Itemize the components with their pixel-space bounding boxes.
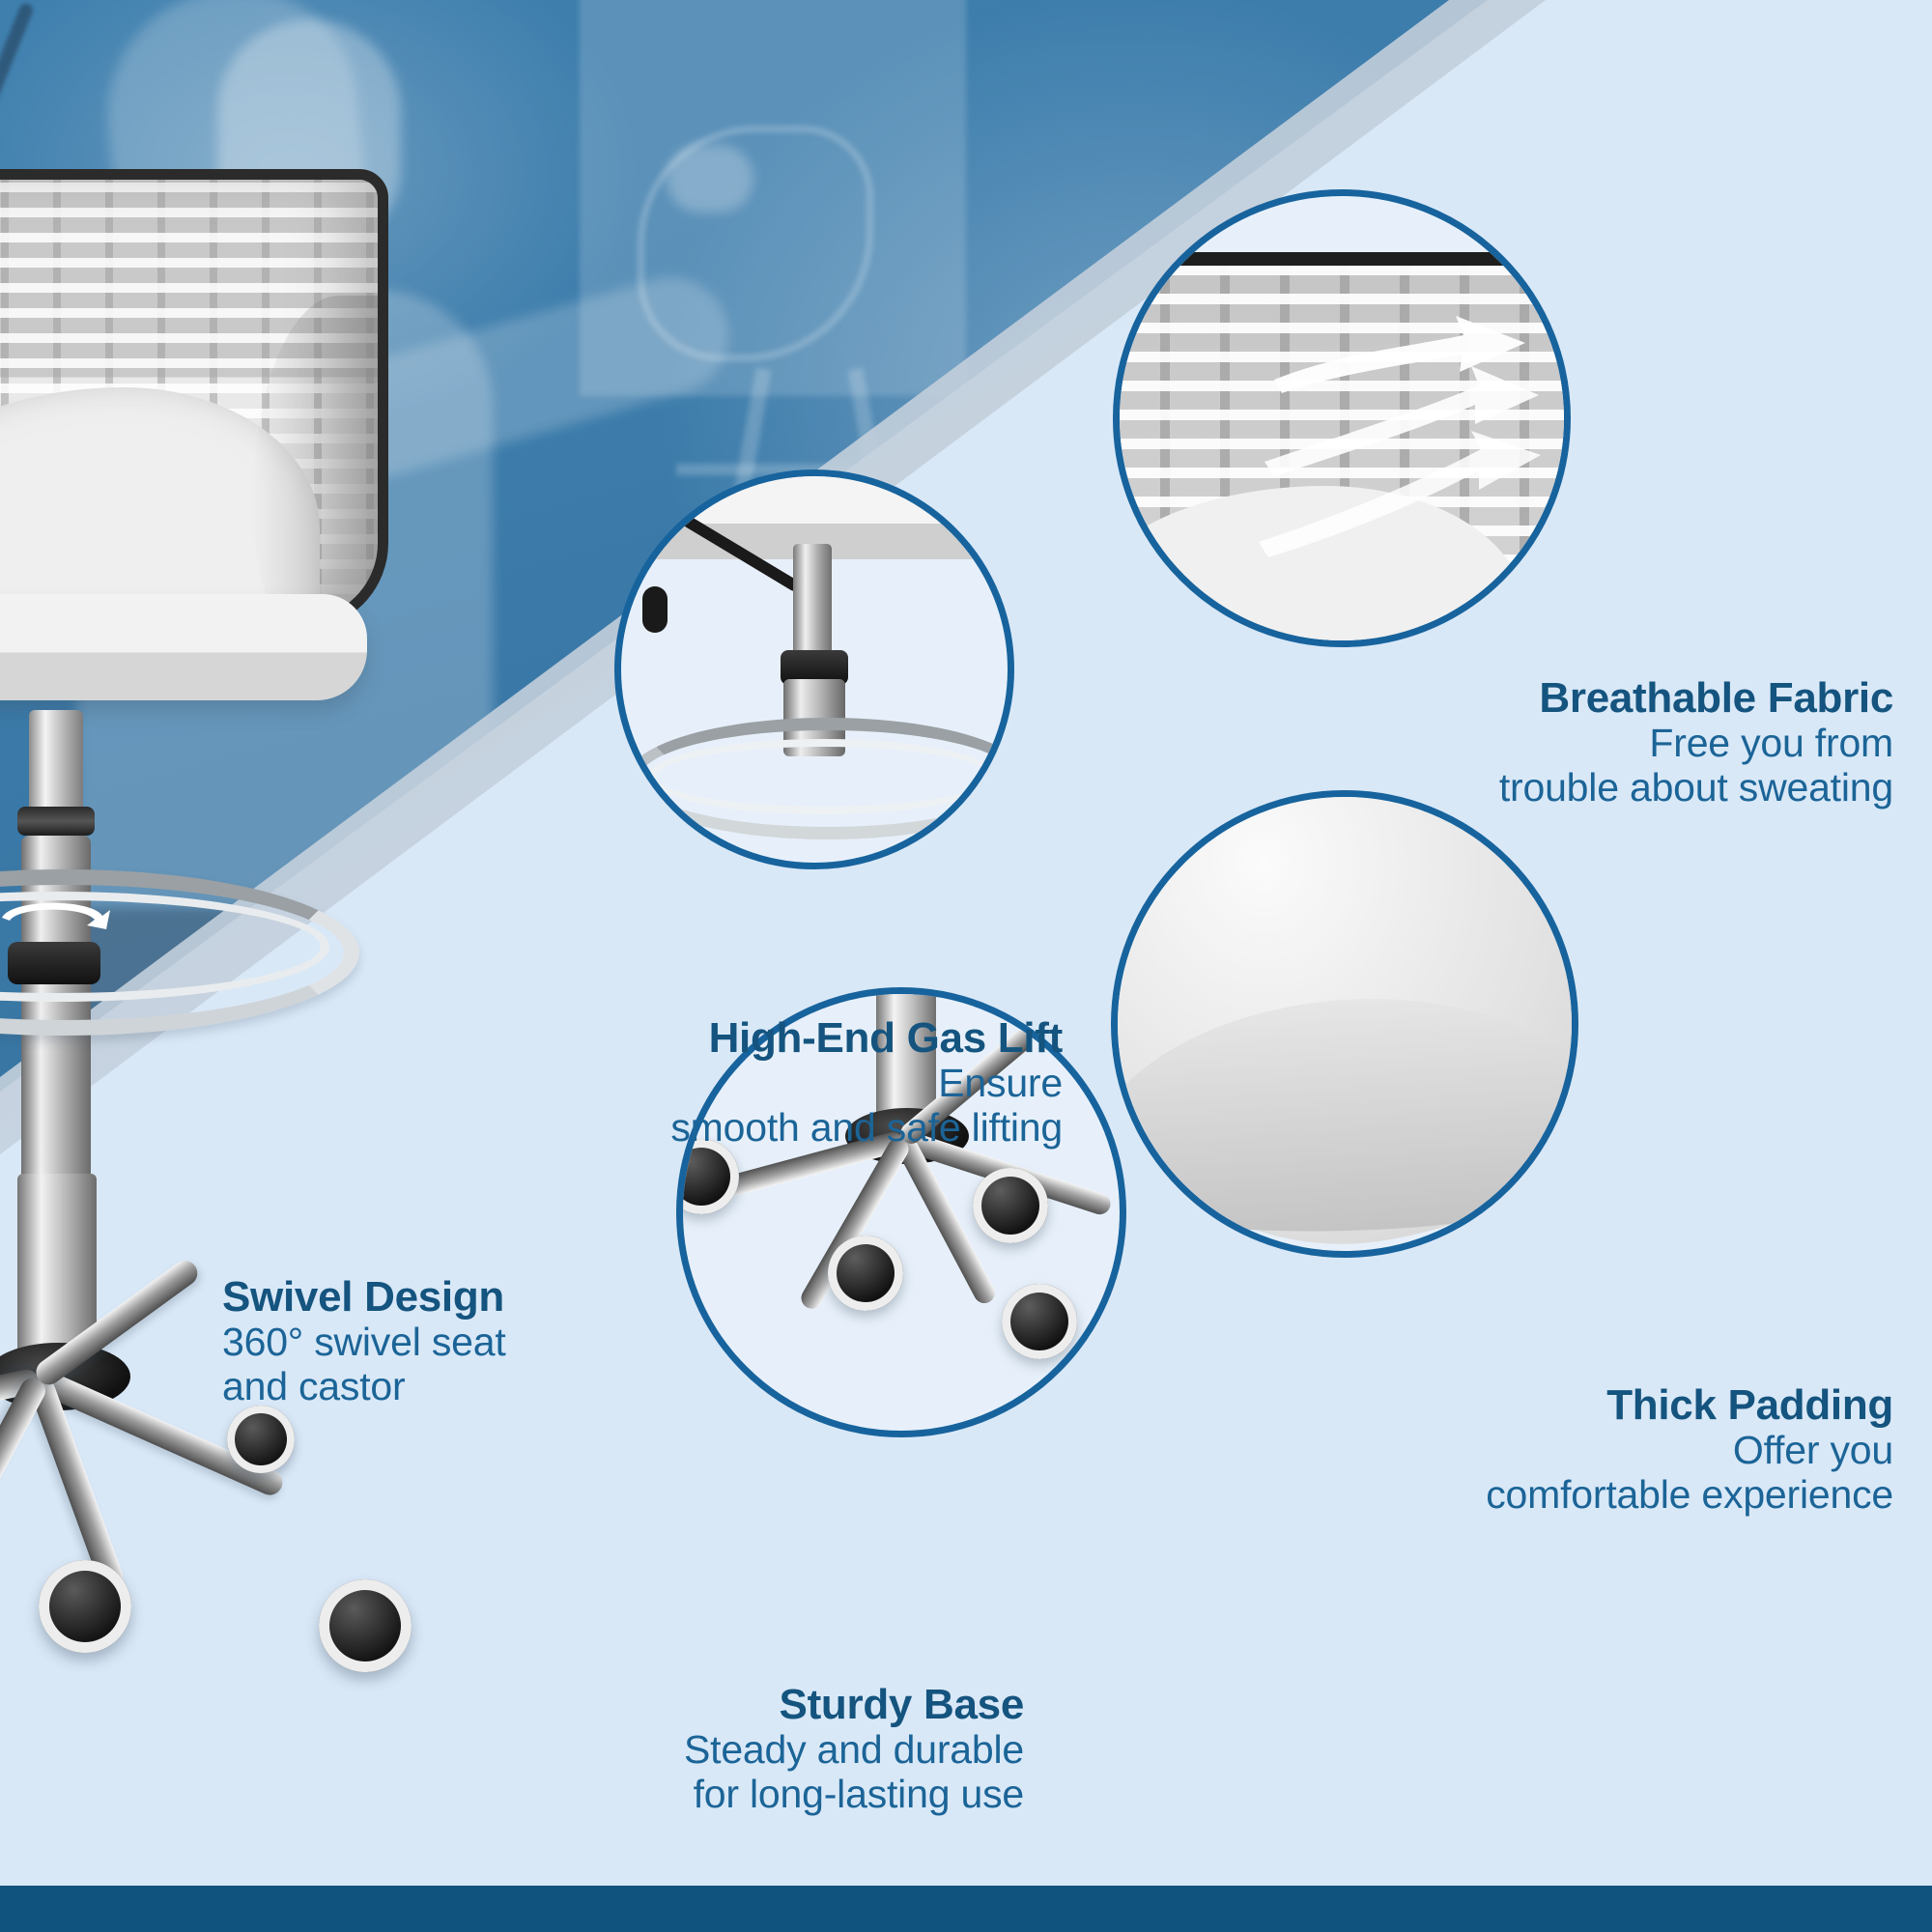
feature-title: Sturdy Base: [464, 1683, 1024, 1728]
caster-wheel: [319, 1579, 412, 1672]
feature-image-breathable-fabric: [1113, 189, 1571, 647]
caster-wheel: [39, 1560, 131, 1653]
feature-title: High-End Gas Lift: [406, 1016, 1063, 1062]
caster-wheel: [828, 1236, 903, 1311]
gas-lift-collar: [17, 807, 95, 836]
feature-title: Swivel Design: [222, 1275, 724, 1321]
feature-line1: Offer you: [947, 1429, 1893, 1473]
airflow-arrows-icon: [1236, 264, 1564, 582]
bottom-accent-bar: [0, 1886, 1932, 1932]
caster-wheel: [973, 1168, 1048, 1243]
lever-knob: [642, 586, 668, 633]
chair-seat-cushion: [0, 594, 367, 700]
feature-text-breathable-fabric: Breathable Fabric Free you from trouble …: [850, 676, 1893, 810]
feature-text-swivel-design: Swivel Design 360° swivel seat and casto…: [222, 1275, 724, 1408]
caster-wheel: [227, 1406, 295, 1473]
feature-line2: for long-lasting use: [464, 1773, 1024, 1817]
gas-lift-rod: [793, 544, 832, 658]
person-hand-silhouette: [667, 145, 753, 213]
infographic-canvas: Breathable Fabric Free you from trouble …: [0, 0, 1932, 1932]
feature-title: Breathable Fabric: [850, 676, 1893, 722]
feature-line2: trouble about sweating: [850, 766, 1893, 810]
feature-line2: and castor: [222, 1365, 724, 1409]
footring-clamp: [8, 942, 100, 984]
caster-wheel: [1002, 1284, 1077, 1359]
feature-image-thick-padding: [1111, 790, 1578, 1258]
feature-line1: Ensure: [406, 1062, 1063, 1106]
feature-line2: comfortable experience: [947, 1473, 1893, 1518]
backrest-shading: [252, 296, 388, 630]
chair-backrest: [0, 169, 388, 630]
feature-text-sturdy-base: Sturdy Base Steady and durable for long-…: [464, 1683, 1024, 1816]
feature-text-gas-lift: High-End Gas Lift Ensure smooth and safe…: [406, 1016, 1063, 1150]
feature-line1: Free you from: [850, 722, 1893, 766]
swivel-rotation-arrow-icon: [0, 889, 116, 941]
feature-line1: 360° swivel seat: [222, 1321, 724, 1365]
feature-title: Thick Padding: [947, 1383, 1893, 1429]
feature-line2: smooth and safe lifting: [406, 1106, 1063, 1151]
feature-line1: Steady and durable: [464, 1728, 1024, 1773]
caster-wheel: [676, 1139, 739, 1214]
feature-text-thick-padding: Thick Padding Offer you comfortable expe…: [947, 1383, 1893, 1517]
